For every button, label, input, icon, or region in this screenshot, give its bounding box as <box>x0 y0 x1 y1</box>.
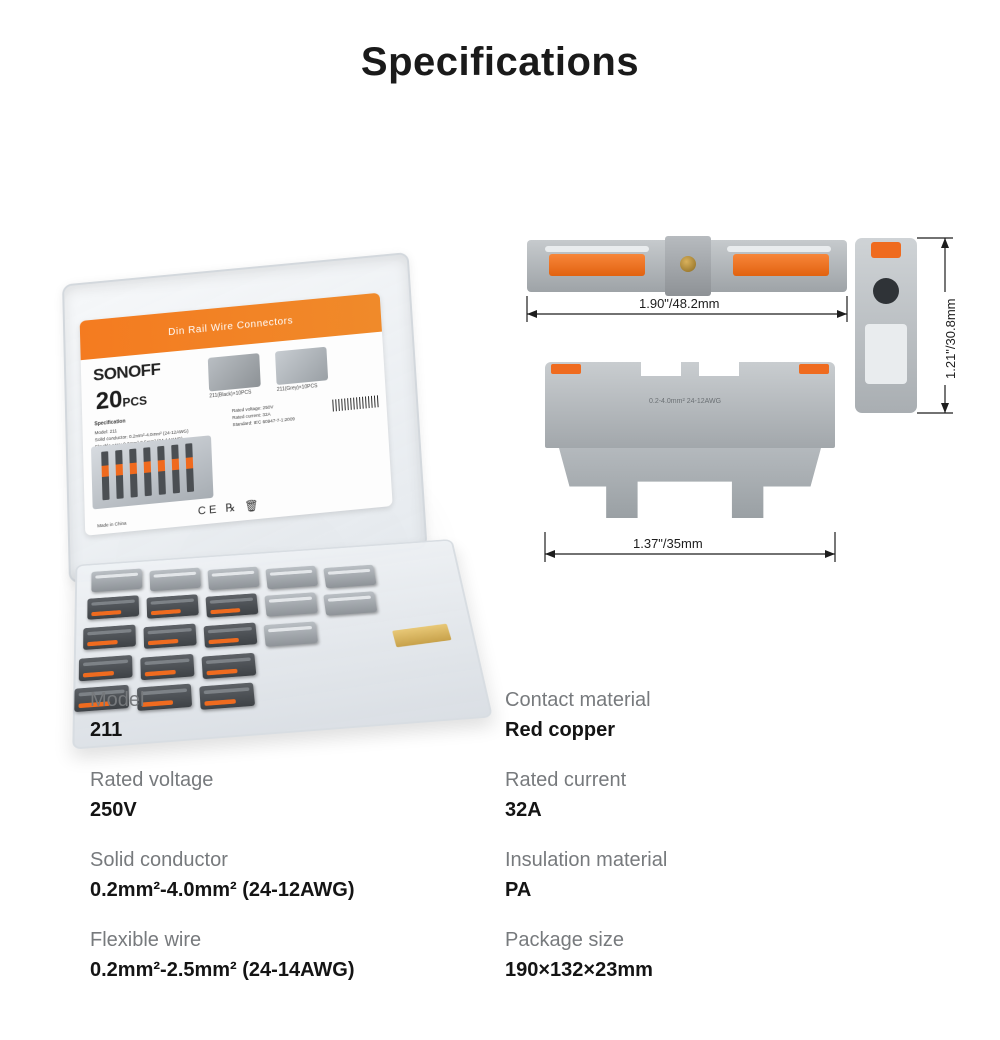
spec-rated-voltage: Rated voltage 250V <box>90 765 505 845</box>
label-product-illustration <box>91 435 214 509</box>
dimension-top-width: 1.90"/48.2mm <box>633 296 726 311</box>
spec-key: Model <box>90 685 505 715</box>
connector-item <box>264 621 318 646</box>
connector-item <box>140 654 194 680</box>
spec-flexible-wire: Flexible wire 0.2mm²-2.5mm² (24-14AWG) <box>90 925 505 1005</box>
dimension-end-height: 1.21"/30.8mm <box>943 293 958 386</box>
dimension-lines <box>505 210 985 640</box>
spec-model: Model 211 <box>90 685 505 765</box>
gold-pins <box>392 624 452 648</box>
connector-item <box>79 655 133 681</box>
spec-key: Package size <box>505 925 920 955</box>
label-spec-heading: Specification <box>94 418 125 427</box>
connector-item <box>265 566 318 590</box>
product-photo: Din Rail Wire Connectors SONOFF 20PCS 21… <box>20 150 500 660</box>
connector-item <box>206 593 259 617</box>
pieces-unit: PCS <box>122 393 147 409</box>
spec-key: Rated voltage <box>90 765 505 795</box>
spec-value: 211 <box>90 715 505 745</box>
certification-icons: CE ℞ 🗑 <box>198 498 262 517</box>
thumbnail-black-caption: 211(Black)×10PCS <box>209 389 251 399</box>
spec-value: Red copper <box>505 715 920 745</box>
label-made-in: Made in China <box>97 520 126 528</box>
illustration-stripe <box>185 443 194 492</box>
connector-item <box>201 653 256 679</box>
thumbnail-grey-connector <box>275 347 328 385</box>
spec-key: Solid conductor <box>90 845 505 875</box>
specifications-table: Model 211 Contact material Red copper Ra… <box>90 685 920 1005</box>
illustration-stripe <box>171 444 180 493</box>
technical-drawings: 0.2-4.0mm² 24-12AWG <box>505 210 985 640</box>
spec-value: 190×132×23mm <box>505 955 920 985</box>
thumbnail-black-connector <box>208 353 261 391</box>
spec-value: 32A <box>505 795 920 825</box>
spec-insulation-material: Insulation material PA <box>505 845 920 925</box>
connector-item <box>91 568 142 592</box>
pieces-count: 20PCS <box>95 384 147 417</box>
illustration-stripe <box>129 449 138 498</box>
page-title: Specifications <box>0 40 1000 85</box>
spec-key: Insulation material <box>505 845 920 875</box>
brand-logo: SONOFF <box>93 360 161 386</box>
connector-item <box>208 567 260 591</box>
illustration-stripe <box>115 450 123 499</box>
connector-item <box>147 594 199 619</box>
spec-solid-conductor: Solid conductor 0.2mm²-4.0mm² (24-12AWG) <box>90 845 505 925</box>
connector-item <box>323 565 376 589</box>
spec-key: Flexible wire <box>90 925 505 955</box>
spec-value: 250V <box>90 795 505 825</box>
connector-item <box>143 624 196 649</box>
illustration-stripe <box>143 447 152 496</box>
connector-item <box>83 625 136 650</box>
illustration-stripe <box>157 446 166 495</box>
spec-rated-current: Rated current 32A <box>505 765 920 845</box>
spec-value: PA <box>505 875 920 905</box>
pieces-number: 20 <box>95 386 122 415</box>
spec-key: Rated current <box>505 765 920 795</box>
connector-item <box>264 592 317 616</box>
thumbnail-grey-caption: 211(Grey)×10PCS <box>277 383 318 393</box>
connector-item <box>204 622 258 647</box>
spec-value: 0.2mm²-4.0mm² (24-12AWG) <box>90 875 505 905</box>
spec-contact-material: Contact material Red copper <box>505 685 920 765</box>
illustration-stripe <box>101 451 109 500</box>
spec-value: 0.2mm²-2.5mm² (24-14AWG) <box>90 955 505 985</box>
spec-package-size: Package size 190×132×23mm <box>505 925 920 1005</box>
spec-key: Contact material <box>505 685 920 715</box>
label-spec-right-text: Rated voltage: 250V Rated current: 32A S… <box>232 404 295 427</box>
connector-item <box>87 595 139 620</box>
connector-item <box>323 591 377 615</box>
dimension-side-width: 1.37"/35mm <box>627 536 709 551</box>
package-label: Din Rail Wire Connectors SONOFF 20PCS 21… <box>80 293 393 536</box>
connector-item <box>150 568 201 592</box>
